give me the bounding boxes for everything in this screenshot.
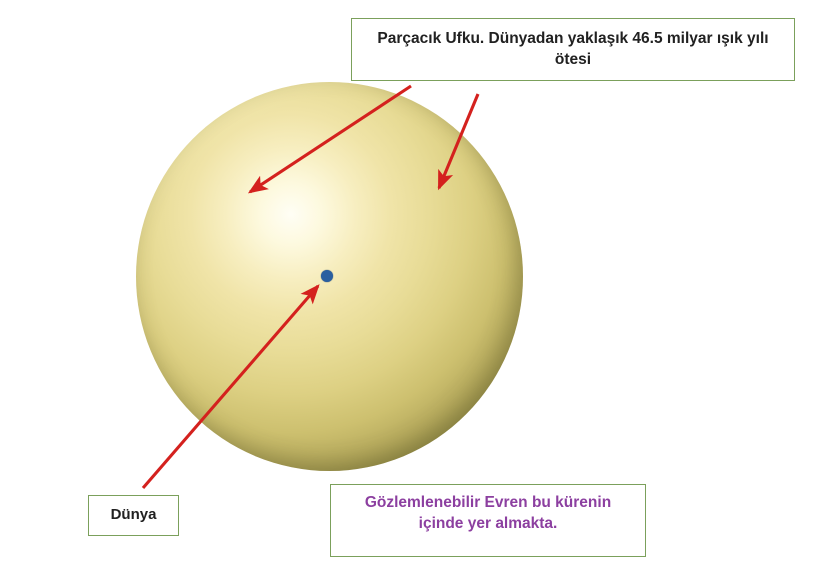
callout-earth-label: Dünya (111, 505, 157, 525)
callout-particle-horizon: Parçacık Ufku. Dünyadan yaklaşık 46.5 mi… (351, 18, 795, 81)
callout-particle-horizon-label: Parçacık Ufku. Dünyadan yaklaşık 46.5 mi… (362, 29, 784, 71)
earth-dot (321, 270, 333, 282)
callout-observable-line2: içinde yer almakta. (331, 514, 645, 535)
callout-observable-line1: Gözlemlenebilir Evren bu kürenin (331, 493, 645, 514)
callout-observable-universe: Gözlemlenebilir Evren bu kürenin içinde … (330, 484, 646, 557)
diagram-canvas: Parçacık Ufku. Dünyadan yaklaşık 46.5 mi… (0, 0, 825, 561)
callout-earth: Dünya (88, 495, 179, 536)
